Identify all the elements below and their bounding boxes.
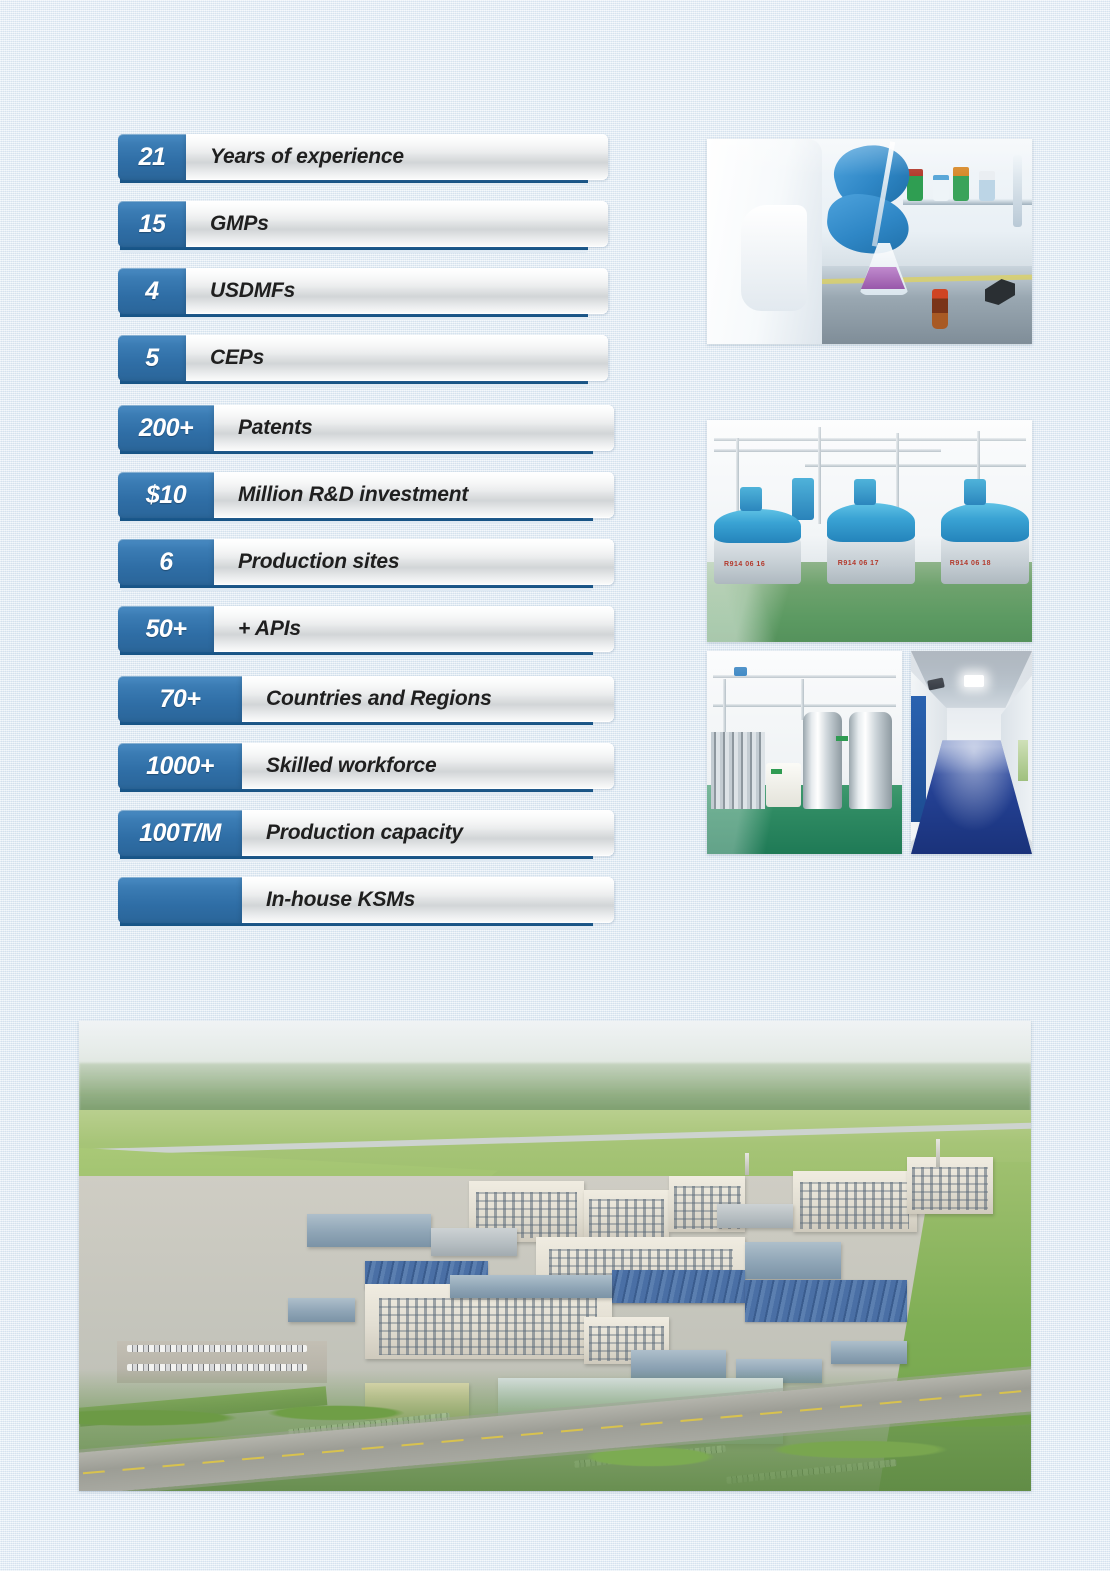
production-building [907,1157,993,1213]
stat-plate: Production sites [214,539,614,585]
vessel-dome [827,503,915,541]
membrane-rack [711,732,766,809]
rooftop-solar-array [612,1270,745,1303]
overhead-pipe [805,464,1026,467]
stat-bar[interactable]: 5 CEPs [118,335,608,381]
stat-bar[interactable]: 6 Production sites [118,539,614,585]
stat-plate: Skilled workforce [242,743,614,789]
stat-group-scale: 70+ Countries and Regions 1000+ Skilled … [118,676,618,923]
statistics-bar-list: 21 Years of experience 15 GMPs 4 USDMFs … [118,134,618,923]
reactor-hall-photo: R914 06 16 R914 06 17 R914 06 18 [707,420,1032,642]
stat-value: 6 [118,539,214,585]
ceiling-light [964,675,984,687]
storage-tank [803,712,842,809]
cleanroom-corridor-photo [911,651,1032,854]
stat-plate: Patents [214,405,614,451]
reagent-bottle [933,175,949,201]
vessel-dome [941,503,1029,541]
stat-value: 21 [118,134,186,180]
stat-bar[interactable]: 100T/M Production capacity [118,810,614,856]
stat-plate: Million R&D investment [214,472,614,518]
stat-group-certifications: 21 Years of experience 15 GMPs 4 USDMFs … [118,134,618,381]
overhead-pipe [714,449,942,452]
stat-label: Years of experience [210,145,404,169]
stat-plate: Years of experience [186,134,608,180]
vessel-tag: R914 06 18 [950,560,991,567]
stat-label: CEPs [210,346,264,370]
pipette-stand [1013,155,1022,227]
reaction-vessel: R914 06 16 [714,482,802,584]
safety-sign [771,769,782,774]
stat-plate: CEPs [186,335,608,381]
stat-value: 70+ [118,676,242,722]
stat-label: USDMFs [210,279,295,303]
stat-value [118,877,242,923]
stat-label: In-house KSMs [266,888,415,912]
stat-label: Production capacity [266,821,463,845]
stat-value: 200+ [118,405,214,451]
utility-building [717,1204,793,1228]
stat-plate: USDMFs [186,268,608,314]
dropper-bottle [932,289,948,329]
water-treatment-photo [707,651,902,854]
parked-cars [127,1345,308,1352]
stat-label: Patents [238,416,312,440]
aerial-site-photo [79,1021,1031,1491]
stat-plate: Countries and Regions [242,676,614,722]
reaction-vessel: R914 06 18 [941,478,1029,585]
vessel-tag: R914 06 17 [838,560,879,567]
rooftop-solar-array [745,1280,907,1322]
stat-value: 1000+ [118,743,242,789]
vessel-tag: R914 06 16 [724,561,765,568]
utility-building [431,1228,517,1256]
stat-bar[interactable]: 15 GMPs [118,201,608,247]
utility-building [745,1242,840,1280]
lab-coat [707,139,822,344]
stat-value: 4 [118,268,186,314]
stat-plate: Production capacity [242,810,614,856]
stat-bar[interactable]: 50+ + APIs [118,606,614,652]
wall-panel [1018,740,1029,781]
production-building [793,1171,917,1232]
laboratory-photo [707,139,1032,344]
stat-bar[interactable]: 1000+ Skilled workforce [118,743,614,789]
stat-label: GMPs [210,212,269,236]
office-roof [450,1275,612,1299]
stat-value: 15 [118,201,186,247]
stat-label: Countries and Regions [266,687,492,711]
agitator-motor [964,479,986,505]
reaction-vessel: R914 06 17 [827,478,915,585]
stat-value: 100T/M [118,810,242,856]
exhaust-stack [936,1139,940,1167]
service-shed [831,1341,907,1365]
stat-label: + APIs [238,617,301,641]
corridor-door [911,696,926,822]
stat-value: 5 [118,335,186,381]
stat-plate: In-house KSMs [242,877,614,923]
vessel-dome [714,509,802,544]
storage-tank [849,712,892,809]
stat-group-capabilities: 200+ Patents $10 Million R&D investment … [118,405,618,652]
stat-bar[interactable]: $10 Million R&D investment [118,472,614,518]
agitator-motor [740,487,762,511]
utility-building [307,1214,431,1247]
vertical-pipe [818,427,821,525]
exhaust-stack [745,1153,749,1175]
stat-value: 50+ [118,606,214,652]
agitator-motor [854,479,876,505]
stat-plate: + APIs [214,606,614,652]
stat-label: Million R&D investment [238,483,468,507]
stat-bar[interactable]: In-house KSMs [118,877,614,923]
stat-bar[interactable]: 70+ Countries and Regions [118,676,614,722]
reagent-bottle [979,171,995,201]
stat-plate: GMPs [186,201,608,247]
pump-motor [734,667,747,676]
production-building [584,1190,670,1242]
reagent-bottle [953,167,969,201]
stat-label: Skilled workforce [266,754,437,778]
service-shed [288,1298,355,1322]
stat-bar[interactable]: 21 Years of experience [118,134,608,180]
vertical-pipe [801,679,804,720]
safety-sign [836,736,848,741]
stat-label: Production sites [238,550,399,574]
stat-value: $10 [118,472,214,518]
overhead-pipe [713,704,896,707]
stat-bar[interactable]: 4 USDMFs [118,268,608,314]
stat-bar[interactable]: 200+ Patents [118,405,614,451]
